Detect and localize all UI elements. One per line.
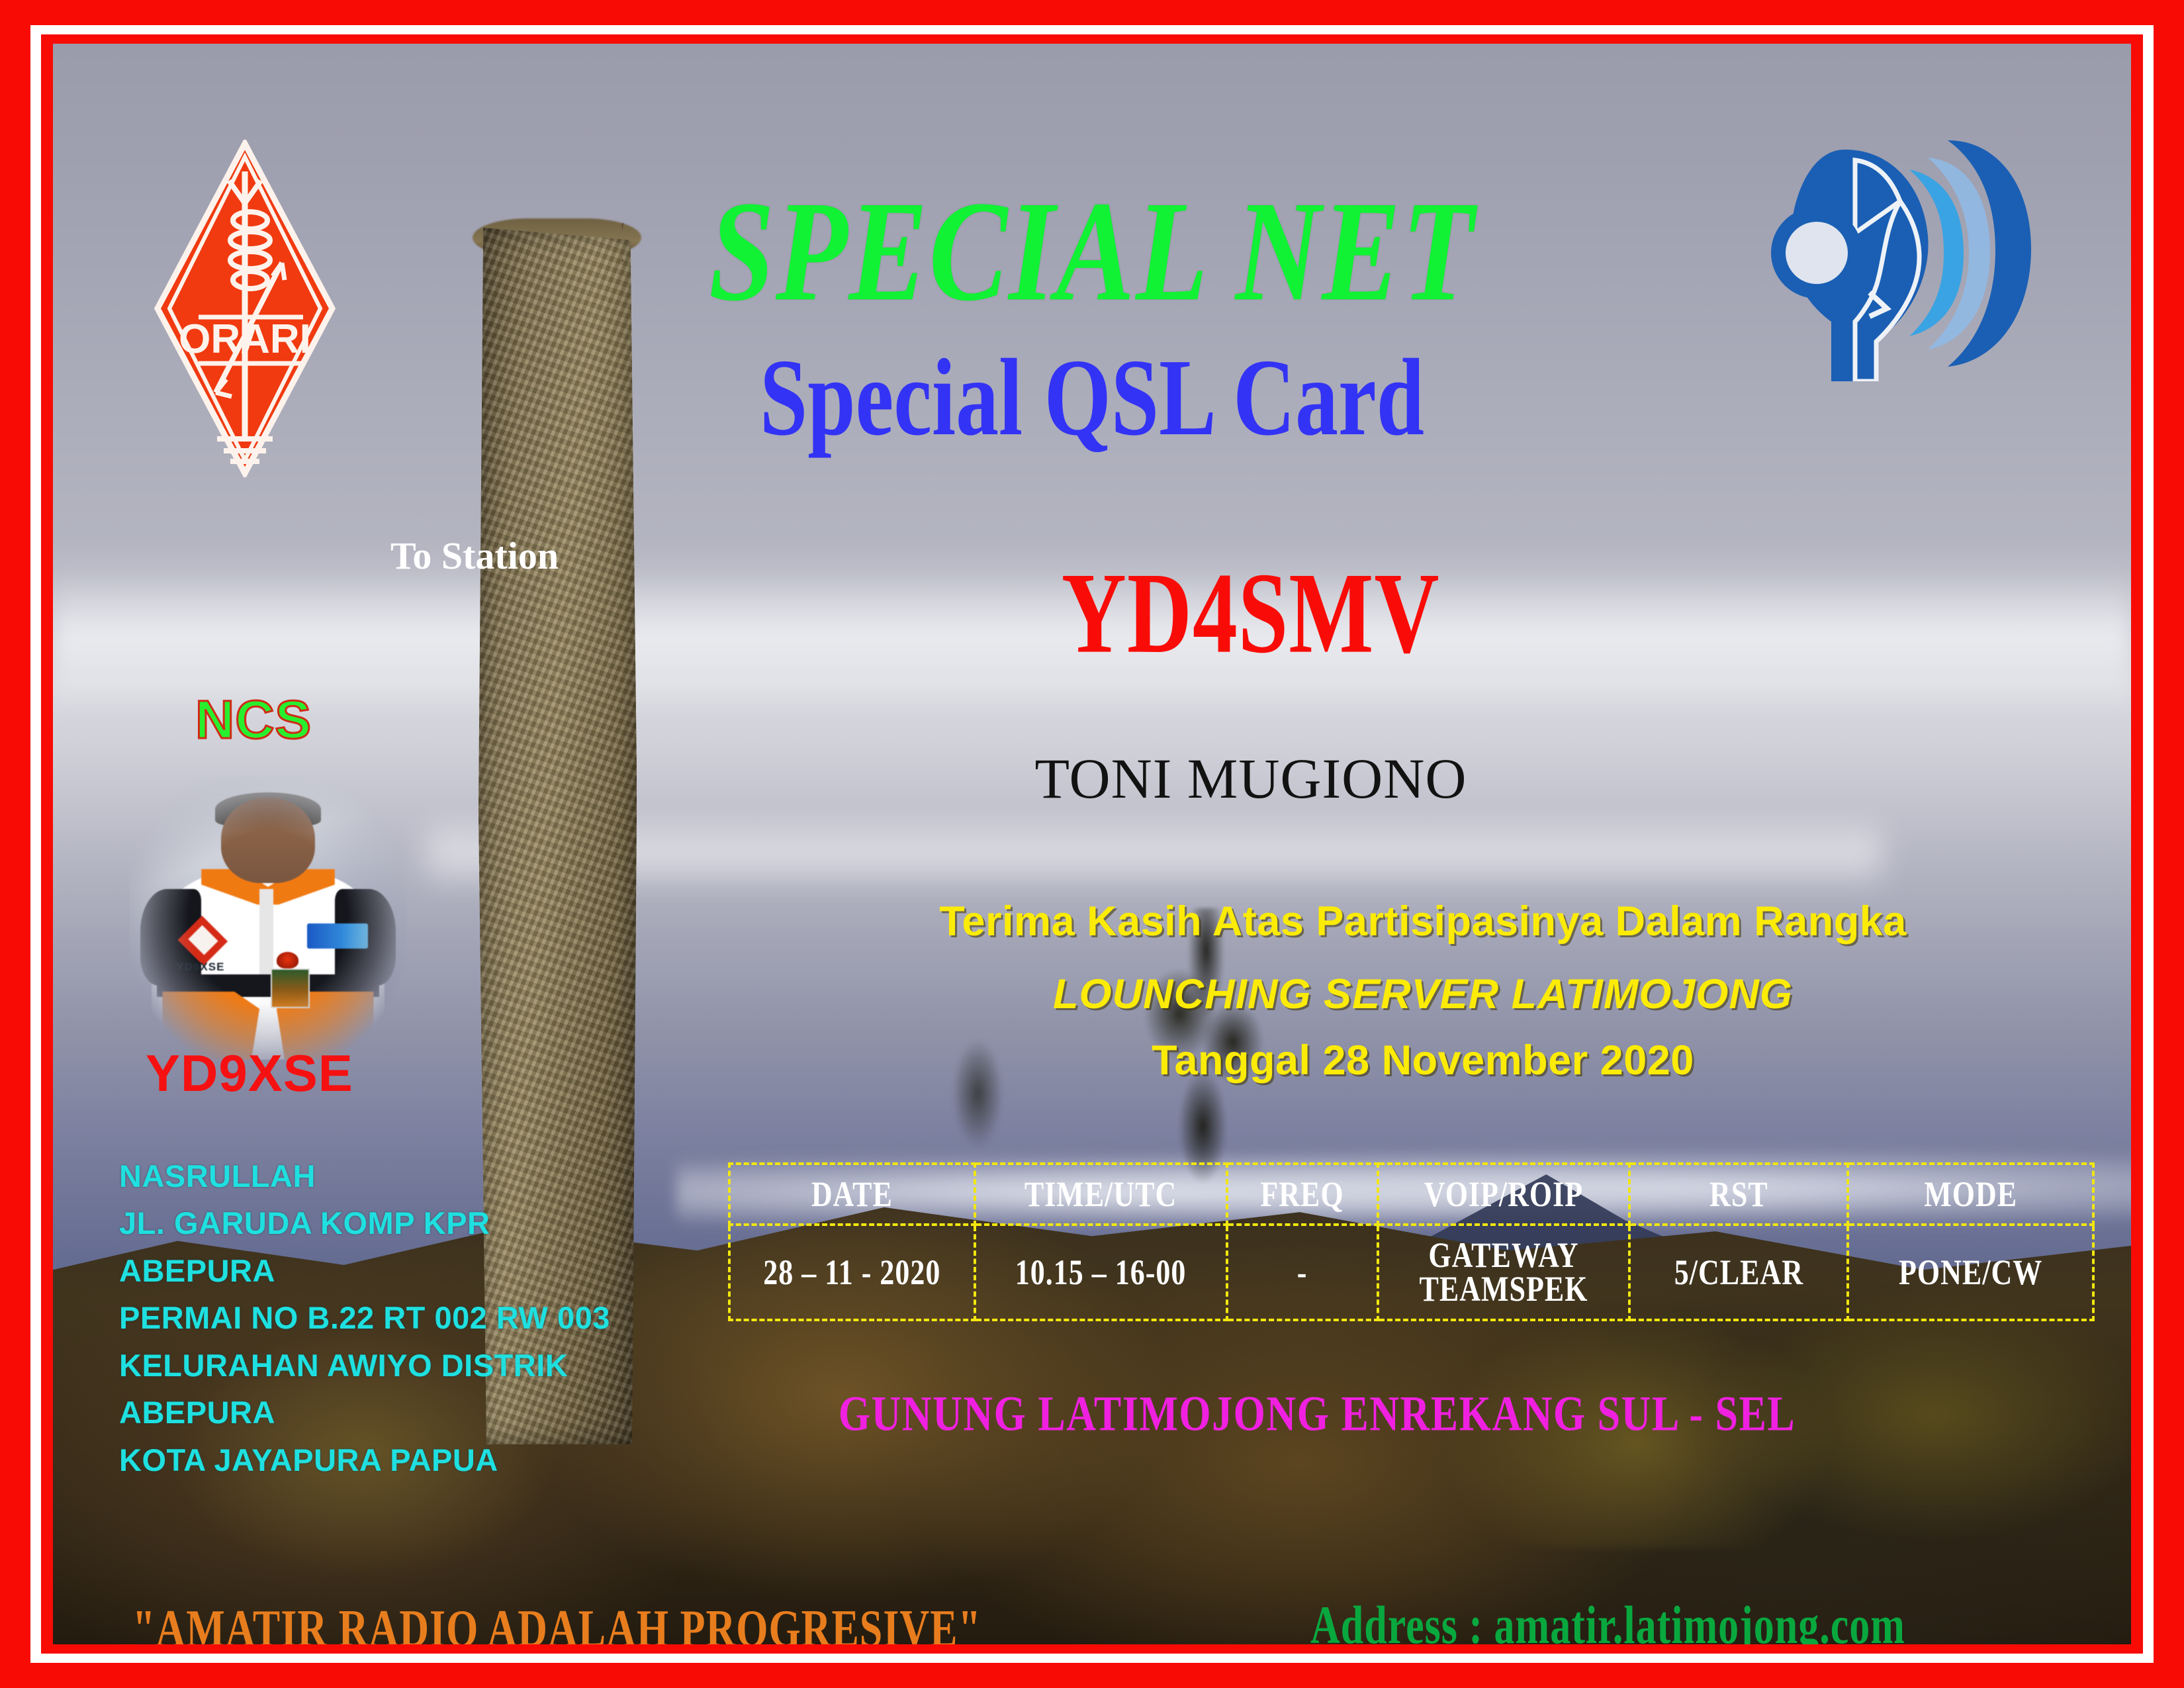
footer-slogan: "AMATIR RADIO ADALAH PROGRESIVE" <box>132 1606 981 1644</box>
cell-time: 10.15 – 16-00 <box>975 1225 1227 1320</box>
cell-freq: - <box>1227 1225 1378 1320</box>
header-text: DATE <box>811 1174 893 1215</box>
ncs-label: NCS <box>195 689 312 751</box>
table-header-time: TIME/UTC <box>975 1164 1227 1225</box>
table-header-mode: MODE <box>1848 1164 2093 1225</box>
header-text: VOIP/ROIP <box>1424 1174 1583 1215</box>
address-line: JL. GARUDA KOMP KPR <box>119 1199 610 1246</box>
table-header-voip: VOIP/ROIP <box>1378 1164 1630 1225</box>
portrait-face <box>221 798 316 883</box>
qso-log-table: DATE TIME/UTC FREQ VOIP/ROIP RST MODE 28… <box>728 1162 2095 1321</box>
table-header-freq: FREQ <box>1227 1164 1378 1225</box>
portrait-chest-logo <box>307 923 368 949</box>
header-text: FREQ <box>1260 1174 1343 1215</box>
header-text: TIME/UTC <box>1024 1174 1177 1215</box>
address-line: PERMAI NO B.22 RT 002 RW 003 <box>119 1294 610 1341</box>
address-line: ABEPURA <box>119 1247 610 1294</box>
portrait-badge-reel <box>277 952 299 969</box>
title-qsl-text: Special QSL Card <box>760 334 1424 461</box>
ncs-operator-photo: YD9XSE <box>129 775 407 1060</box>
web-address-text: Address : amatir.latimojong.com <box>1310 1595 1905 1644</box>
header-text: MODE <box>1924 1174 2017 1215</box>
thanks-message-date: Tanggal 28 November 2020 <box>774 1037 2071 1084</box>
cell-text: 5/CLEAR <box>1674 1252 1803 1293</box>
location-label: GUNUNG LATIMOJONG ENREKANG SUL - SEL <box>688 1391 1946 1438</box>
thanks-message-line1: Terima Kasih Atas Partisipasinya Dalam R… <box>774 898 2071 945</box>
header-text: RST <box>1709 1174 1768 1215</box>
page-subtitle-qsl: Special QSL Card <box>53 348 2131 447</box>
cell-voip: GATEWAY TEAMSPEK <box>1378 1225 1630 1320</box>
cell-text: 10.15 – 16-00 <box>1015 1252 1187 1293</box>
qsl-card: ORARI <box>0 0 2184 1688</box>
portrait-id-badge <box>271 968 310 1008</box>
portrait-uniform-callsign: YD9XSE <box>176 961 243 972</box>
station-callsign: YD4SMV <box>754 560 1747 667</box>
table-header-row: DATE TIME/UTC FREQ VOIP/ROIP RST MODE <box>729 1164 2093 1225</box>
haze-band-lower <box>427 812 1882 892</box>
cell-text: 28 – 11 - 2020 <box>763 1252 940 1293</box>
footer-web-address: Address : amatir.latimojong.com <box>1310 1603 1905 1644</box>
card-photo-background: ORARI <box>53 44 2131 1644</box>
station-callsign-text: YD4SMV <box>1062 547 1440 680</box>
title-net-text: SPECIAL NET <box>709 167 1475 334</box>
cell-mode: PONE/CW <box>1848 1225 2093 1320</box>
address-line: ABEPURA <box>119 1389 610 1436</box>
address-line: KOTA JAYAPURA PAPUA <box>119 1436 610 1483</box>
location-text: GUNUNG LATIMOJONG ENREKANG SUL - SEL <box>839 1385 1796 1443</box>
address-line: KELURAHAN AWIYO DISTRIK <box>119 1342 610 1389</box>
cell-text: TEAMSPEK <box>1420 1268 1588 1309</box>
table-header-date: DATE <box>729 1164 975 1225</box>
ncs-address-block: NASRULLAH JL. GARUDA KOMP KPR ABEPURA PE… <box>119 1152 610 1483</box>
cell-text: PONE/CW <box>1899 1252 2042 1293</box>
to-station-label: To Station <box>390 534 559 578</box>
table-row: 28 – 11 - 2020 10.15 – 16-00 - GATEWAY T… <box>729 1225 2093 1320</box>
operator-name: TONI MUGIONO <box>754 745 1747 812</box>
address-line: NASRULLAH <box>119 1152 610 1199</box>
page-title-special-net: SPECIAL NET <box>53 183 2131 319</box>
cell-text: - <box>1297 1252 1308 1293</box>
ncs-callsign: YD9XSE <box>146 1043 353 1103</box>
portrait-mask: YD9XSE <box>129 775 407 1060</box>
cell-rst: 5/CLEAR <box>1629 1225 1848 1320</box>
slogan-text: "AMATIR RADIO ADALAH PROGRESIVE" <box>132 1599 981 1644</box>
thanks-message-line2: LOUNCHING SERVER LATIMOJONG <box>774 970 2071 1018</box>
table-header-rst: RST <box>1629 1164 1848 1225</box>
cell-date: 28 – 11 - 2020 <box>729 1225 975 1320</box>
